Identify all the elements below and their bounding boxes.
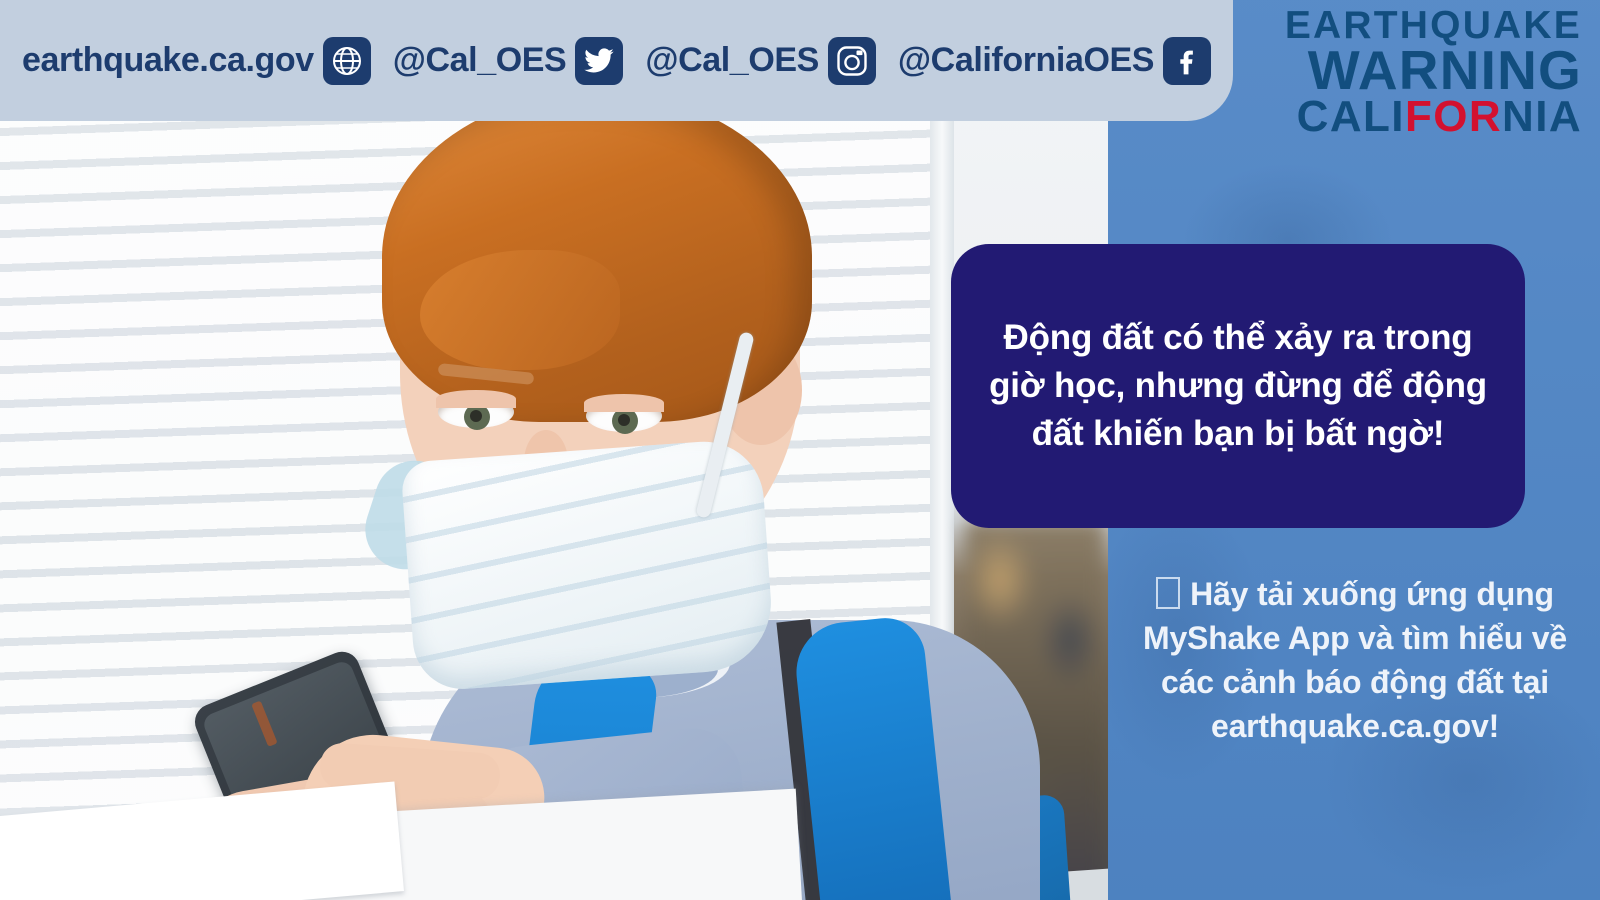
- website-label: earthquake.ca.gov: [22, 41, 314, 80]
- logo-line-warning: WARNING: [1252, 45, 1582, 97]
- social-header-bar: earthquake.ca.gov @Cal_OES @Cal_OES: [0, 0, 1233, 121]
- missing-glyph-box-icon: [1156, 577, 1180, 609]
- header-item-twitter[interactable]: @Cal_OES: [393, 37, 646, 85]
- call-to-action-text: Hãy tải xuống ứng dụng MyShake App và tì…: [1122, 572, 1588, 749]
- logo-nia: NIA: [1502, 92, 1582, 141]
- poster-canvas: earthquake.ca.gov @Cal_OES @Cal_OES: [0, 0, 1600, 900]
- header-item-facebook[interactable]: @CaliforniaOES: [898, 37, 1233, 85]
- instagram-handle-label: @Cal_OES: [645, 41, 819, 80]
- facebook-icon[interactable]: [1163, 37, 1211, 85]
- eyelid-right: [584, 394, 664, 412]
- instagram-icon[interactable]: [828, 37, 876, 85]
- headline-message-text: Động đất có thể xảy ra trong giờ học, nh…: [985, 314, 1491, 458]
- twitter-icon[interactable]: [575, 37, 623, 85]
- logo-cali: CALI: [1297, 92, 1405, 141]
- twitter-handle-label: @Cal_OES: [393, 41, 567, 80]
- headline-message-box: Động đất có thể xảy ra trong giờ học, nh…: [951, 244, 1525, 528]
- call-to-action-block: Hãy tải xuống ứng dụng MyShake App và tì…: [1122, 572, 1588, 749]
- logo-line-california: CALIFORNIA: [1252, 96, 1582, 137]
- eyelid-left: [436, 390, 516, 408]
- classroom-photo: [0, 0, 1110, 900]
- logo-for-accent: FOR: [1405, 92, 1502, 141]
- globe-icon[interactable]: [323, 37, 371, 85]
- call-to-action-string: Hãy tải xuống ứng dụng MyShake App và tì…: [1143, 576, 1567, 744]
- header-item-website[interactable]: earthquake.ca.gov: [22, 37, 393, 85]
- student-figure: [120, 100, 960, 900]
- facebook-handle-label: @CaliforniaOES: [898, 41, 1154, 80]
- header-item-instagram[interactable]: @Cal_OES: [645, 37, 898, 85]
- earthquake-warning-california-logo: EARTHQUAKE WARNING CALIFORNIA: [1252, 8, 1582, 138]
